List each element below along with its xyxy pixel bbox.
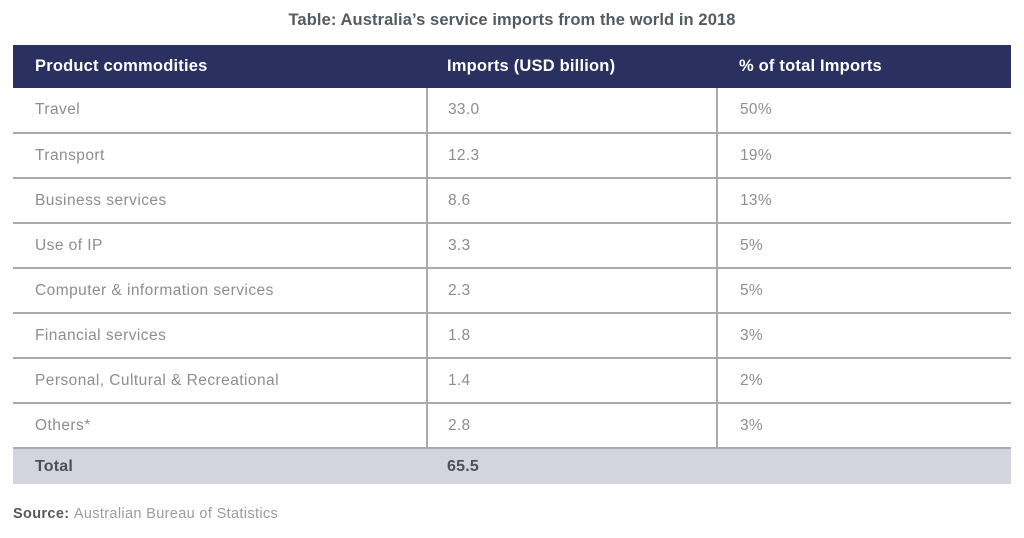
cell-imports: 33.0 [427,88,717,133]
cell-percent: 3% [717,403,1011,448]
cell-percent: 2% [717,358,1011,403]
table-row: Business services 8.6 13% [13,178,1011,223]
table-header-row: Product commodities Imports (USD billion… [13,45,1011,88]
cell-percent: 13% [717,178,1011,223]
cell-imports: 2.3 [427,268,717,313]
cell-commodity: Use of IP [13,223,427,268]
cell-imports: 1.4 [427,358,717,403]
table-total-row: Total 65.5 [13,448,1011,484]
cell-imports: 8.6 [427,178,717,223]
table-row: Travel 33.0 50% [13,88,1011,133]
cell-commodity: Business services [13,178,427,223]
table-figure: Table: Australia’s service imports from … [0,0,1024,538]
table-body: Travel 33.0 50% Transport 12.3 19% Busin… [13,88,1011,484]
column-header-percent-of-total-imports: % of total Imports [717,45,1011,88]
service-imports-table: Product commodities Imports (USD billion… [13,45,1011,484]
cell-imports: 12.3 [427,133,717,178]
column-header-product-commodities: Product commodities [13,45,427,88]
page-title: Table: Australia’s service imports from … [0,11,1024,30]
column-header-imports-usd-billion: Imports (USD billion) [427,45,717,88]
cell-imports: 2.8 [427,403,717,448]
source-label: Source: [13,506,69,522]
cell-imports: 1.8 [427,313,717,358]
table-row: Computer & information services 2.3 5% [13,268,1011,313]
source-note: Source: Australian Bureau of Statistics [13,506,278,522]
table-row: Others* 2.8 3% [13,403,1011,448]
table-container: Product commodities Imports (USD billion… [13,45,1011,484]
total-imports: 65.5 [427,448,717,484]
cell-percent: 5% [717,268,1011,313]
cell-commodity: Transport [13,133,427,178]
cell-percent: 50% [717,88,1011,133]
total-percent [717,448,1011,484]
table-row: Transport 12.3 19% [13,133,1011,178]
cell-commodity: Computer & information services [13,268,427,313]
table-row: Use of IP 3.3 5% [13,223,1011,268]
cell-percent: 3% [717,313,1011,358]
source-value: Australian Bureau of Statistics [74,506,278,522]
cell-commodity: Travel [13,88,427,133]
cell-imports: 3.3 [427,223,717,268]
cell-commodity: Others* [13,403,427,448]
table-head: Product commodities Imports (USD billion… [13,45,1011,88]
cell-percent: 5% [717,223,1011,268]
total-label: Total [13,448,427,484]
table-row: Personal, Cultural & Recreational 1.4 2% [13,358,1011,403]
cell-percent: 19% [717,133,1011,178]
cell-commodity: Financial services [13,313,427,358]
cell-commodity: Personal, Cultural & Recreational [13,358,427,403]
table-row: Financial services 1.8 3% [13,313,1011,358]
